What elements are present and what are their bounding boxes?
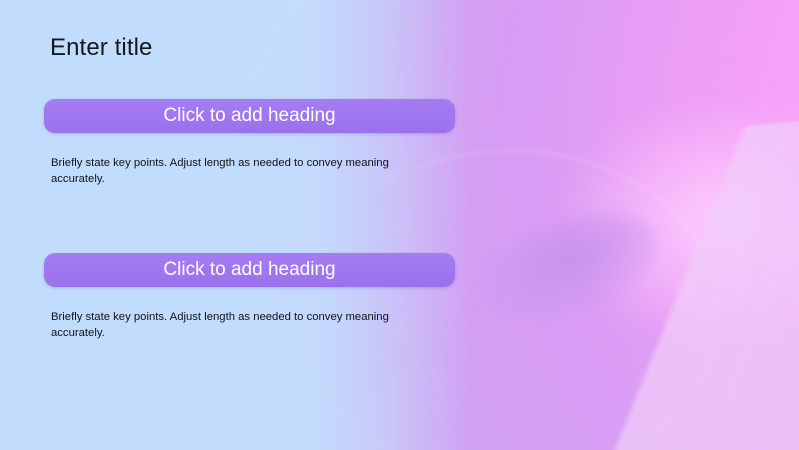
body-text-1[interactable]: Briefly state key points. Adjust length …: [51, 156, 423, 187]
slide-canvas: Enter title Click to add heading Briefly…: [0, 0, 799, 450]
add-heading-button-1[interactable]: Click to add heading: [44, 99, 455, 133]
body-text-2[interactable]: Briefly state key points. Adjust length …: [51, 310, 423, 341]
content-block-2: Click to add heading Briefly state key p…: [44, 253, 455, 341]
content-block-1: Click to add heading Briefly state key p…: [44, 99, 455, 187]
page-title[interactable]: Enter title: [50, 33, 152, 63]
add-heading-button-2[interactable]: Click to add heading: [44, 253, 455, 287]
slide-content: Enter title Click to add heading Briefly…: [0, 0, 799, 450]
